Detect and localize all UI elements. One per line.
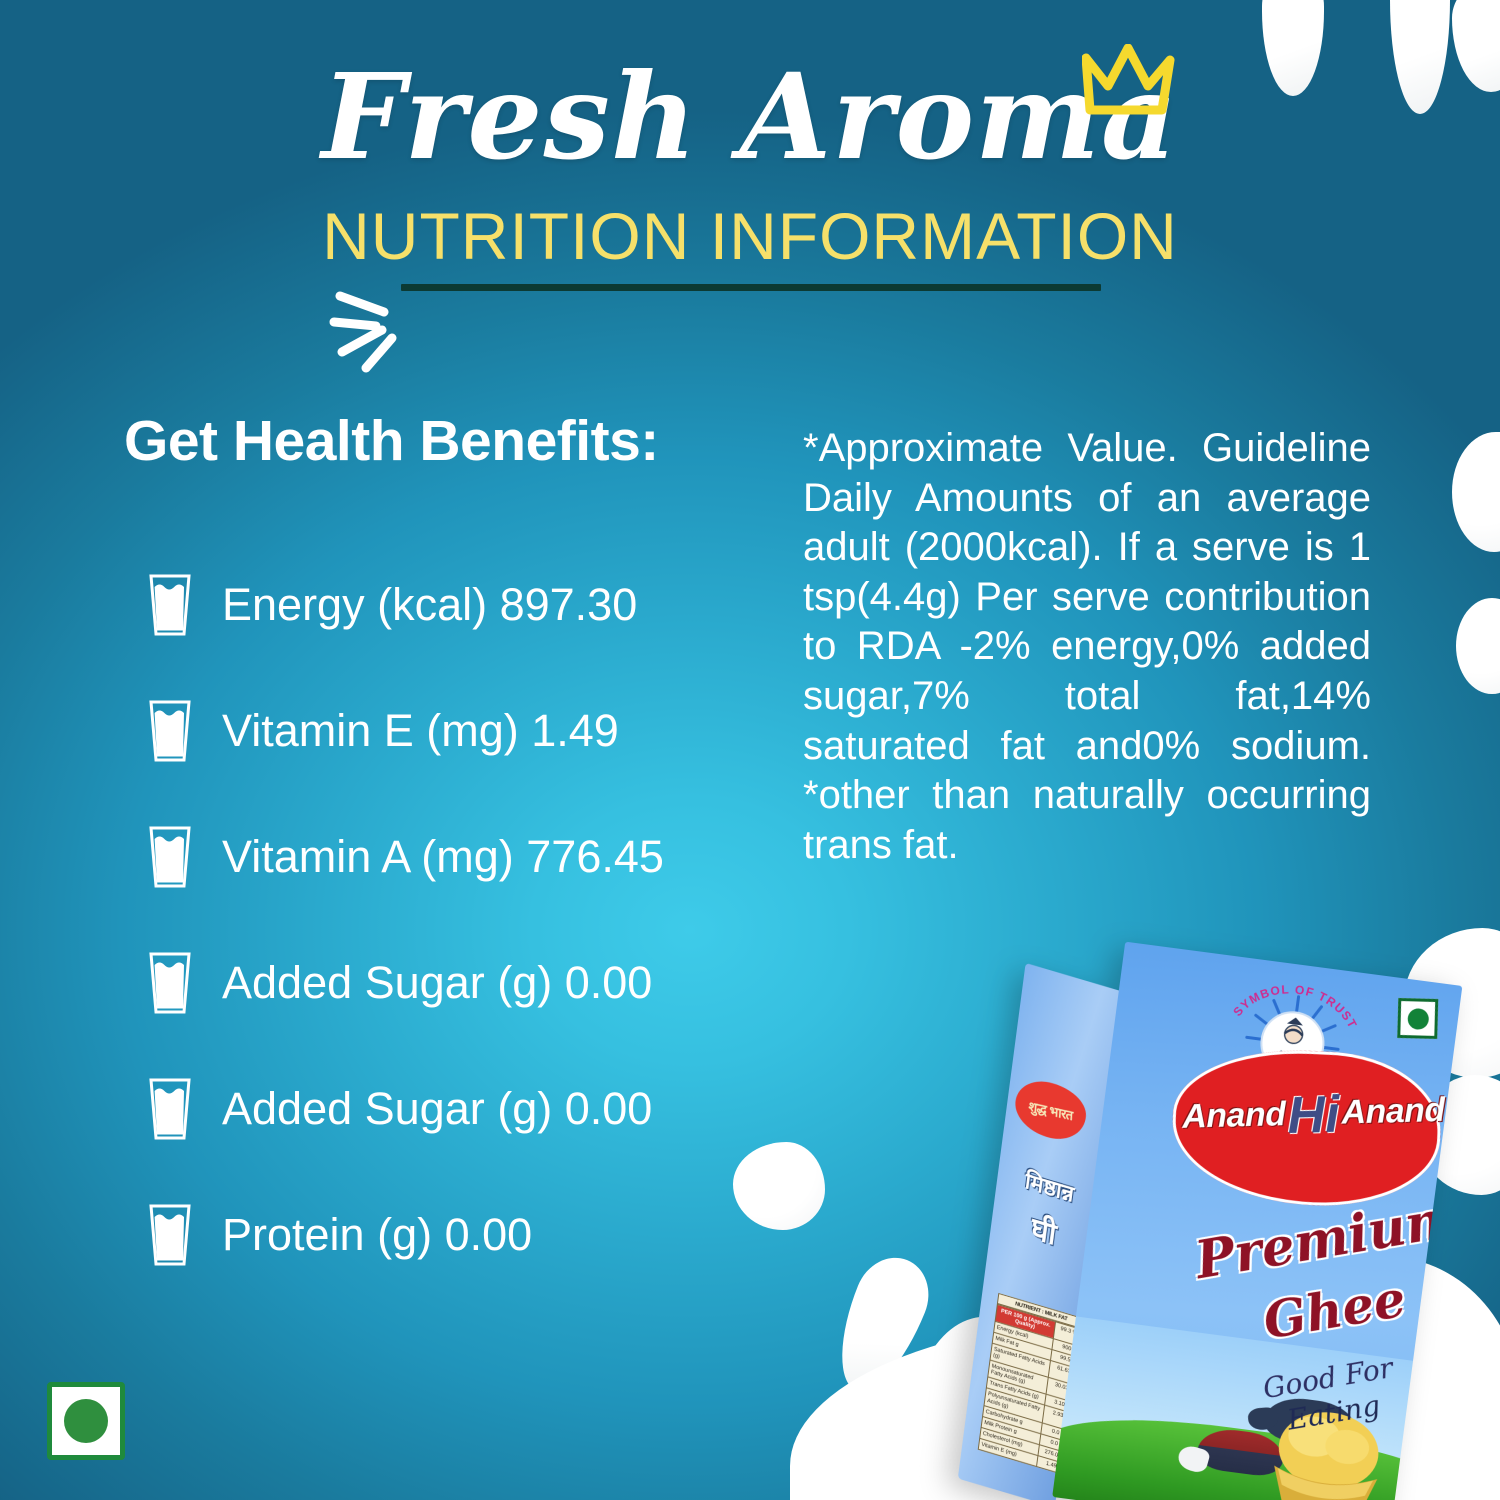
title-divider [401,284,1101,291]
vegetarian-mark-icon [47,1382,125,1460]
list-item-label: Added Sugar (g) 0.00 [222,1083,652,1135]
list-item: Vitamin E (mg) 1.49 [146,668,786,794]
milk-glass-icon [146,572,194,638]
list-item-label: Protein (g) 0.00 [222,1209,532,1261]
ghee-script-text: Ghee [1259,1269,1409,1351]
list-item: Protein (g) 0.00 [146,1172,786,1298]
page-title: Get Health Benefits: [124,408,659,474]
page-subtitle: NUTRITION INFORMATION [0,198,1500,274]
milk-glass-icon [146,1202,194,1268]
list-item: Vitamin A (mg) 776.45 [146,794,786,920]
milk-glass-icon [146,698,194,764]
milk-glass-icon [146,824,194,890]
brand-name-text: AnandHiAnand [1181,1082,1440,1149]
milk-glass-icon [146,1076,194,1142]
vegetarian-mark-icon [1397,998,1438,1039]
list-item-label: Energy (kcal) 897.30 [222,579,637,631]
list-item-label: Vitamin A (mg) 776.45 [222,831,664,883]
vegetarian-mark-dot [1407,1008,1429,1030]
package-side-badge-label: शुद्ध भारत [1028,1096,1073,1124]
milk-droplet-icon [1452,432,1500,552]
approximate-value-note: *Approximate Value. Guideline Daily Amou… [803,424,1371,870]
milk-glass-icon [146,950,194,1016]
brand-word-middle: Hi [1287,1085,1341,1146]
list-item-label: Vitamin E (mg) 1.49 [222,705,619,757]
brand-word-left: Anand [1182,1095,1286,1136]
brand-title: Fresh Aroma [0,54,1500,179]
list-item: Energy (kcal) 897.30 [146,542,786,668]
benefits-list: Energy (kcal) 897.30 Vitamin E (mg) 1.49… [146,542,786,1298]
list-item: Added Sugar (g) 0.00 [146,1046,786,1172]
vegetarian-mark-dot [64,1399,108,1443]
package-front-face: SYMBOL OF TRUST [1052,942,1462,1500]
list-item: Added Sugar (g) 0.00 [146,920,786,1046]
milk-droplet-icon [1456,598,1500,694]
ghee-package-image: शुद्ध भारत मिष्ठान्न घी NUTRIENT : MILK … [957,929,1496,1500]
brand-word-right: Anand [1341,1091,1445,1132]
list-item-label: Added Sugar (g) 0.00 [222,957,652,1009]
crown-icon [1082,44,1178,122]
nutrition-infographic-poster: Fresh Aroma NUTRITION INFORMATION Get He… [0,0,1500,1500]
burst-icon [328,286,408,374]
